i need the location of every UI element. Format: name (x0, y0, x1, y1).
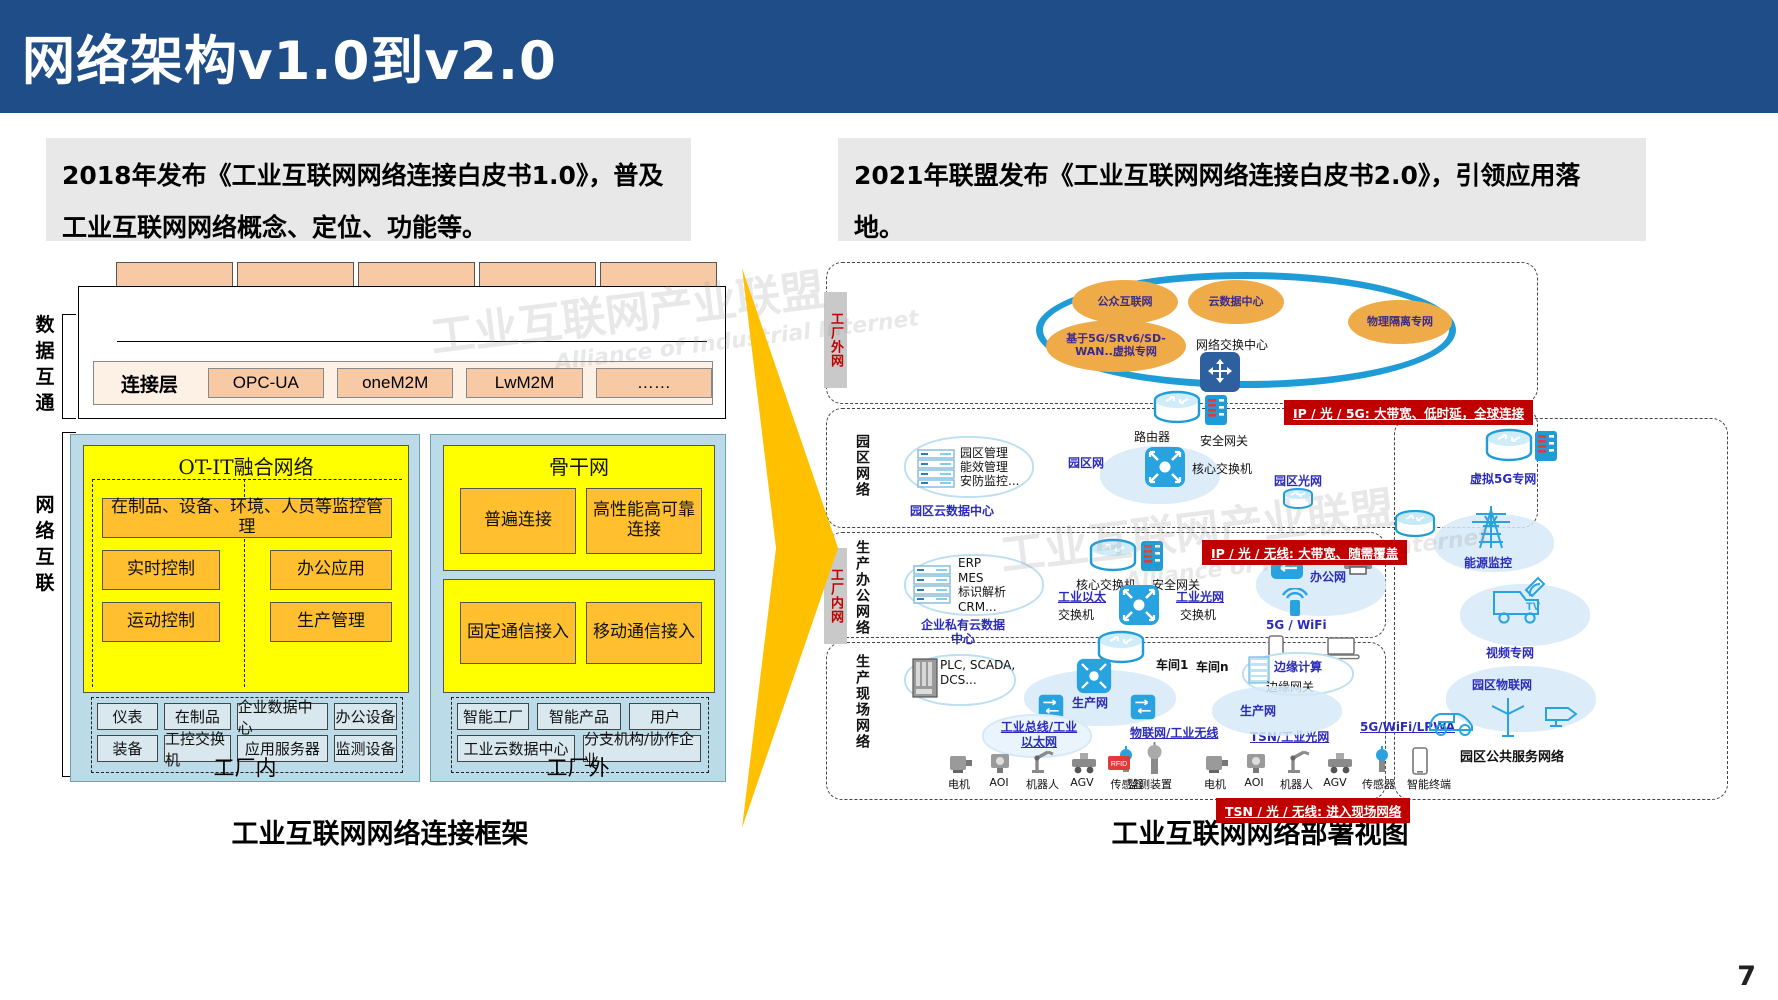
outside-chip: 智能工厂 (457, 703, 529, 730)
aoi-camera-icon (988, 748, 1014, 776)
smart-car-icon (1426, 698, 1480, 738)
ot-it-network-panel: OT-IT融合网络 在制品、设备、环境、人员等监控管理 实时控制 办公应用 运动… (83, 445, 409, 693)
device-label: 智能终端 (1407, 776, 1451, 792)
outside-factory-panel: 骨干网 普遍连接 高性能高可靠连接 固定通信接入 移动通信接入 智能工厂 智能产… (430, 434, 726, 782)
function-box: 办公应用 (270, 550, 392, 590)
data-interop-panel: 连接层 OPC-UA oneM2M LwM2M …… (78, 286, 726, 419)
wan-node-cloud-dc: 云数据中心 (1188, 280, 1284, 324)
inside-factory-panel: OT-IT融合网络 在制品、设备、环境、人员等监控管理 实时控制 办公应用 运动… (70, 434, 420, 782)
zone-text-production-field: 生产现场网络 (852, 654, 872, 750)
access-function-box: 移动通信接入 (586, 602, 702, 664)
production-net-cloud-2 (1212, 686, 1342, 736)
field-device-row-right (1204, 746, 1430, 776)
callout-right-text: 2021年联盟发布《工业互联网网络连接白皮书2.0》，引领应用落地。 (838, 138, 1646, 241)
side-label-network: 网络互联 (30, 492, 60, 596)
transition-arrow-icon (742, 268, 838, 828)
wifi-antenna-icon (1278, 588, 1312, 618)
device-label: AGV (1068, 776, 1096, 792)
left-framework-diagram: 数据互通 网络互联 工业云平台 工业软件 工业APP 工业网站 …… 连接层 O… (28, 262, 728, 812)
connection-layer-title: 连接层 (104, 370, 195, 397)
zone-text-production-office: 生产办公网络 (852, 540, 872, 636)
device-chip: 企业数据中心 (237, 703, 328, 730)
agv-icon (1326, 748, 1354, 776)
access-function-box: 固定通信接入 (460, 602, 576, 664)
industrial-ethernet-label: 工业以太 (1058, 588, 1106, 605)
red-bar-ip-optical-5g: IP / 光 / 5G: 大带宽、低时延，全球连接 (1284, 400, 1533, 425)
smart-terminal-icon (1410, 746, 1430, 776)
backbone-network-title: 骨干网 (444, 446, 714, 480)
public-optical-router-icon (1394, 510, 1436, 540)
wan-node-isolated-net: 物理隔离专网 (1348, 300, 1452, 344)
connection-layer-row: 连接层 OPC-UA oneM2M LwM2M …… (93, 361, 713, 405)
field-switch-icon (1130, 694, 1156, 720)
monitor-device-label: 监测装置 (1128, 776, 1172, 792)
device-label: 电机 (946, 776, 972, 792)
wind-turbine-icon (1486, 694, 1530, 740)
security-gateway-icon (1204, 394, 1228, 426)
function-box: 实时控制 (102, 550, 220, 590)
outside-chip: 用户 (629, 703, 701, 730)
zone-text-campus-network: 园区网络 (852, 434, 872, 498)
backbone-function-box: 普遍连接 (460, 488, 576, 554)
public-security-gateway-icon (1534, 430, 1558, 462)
device-label: AGV (1321, 776, 1349, 792)
backbone-network-panel: 骨干网 普遍连接 高性能高可靠连接 (443, 445, 715, 571)
optical-router-icon (1282, 488, 1314, 510)
workshop-n-label: 车间n (1196, 658, 1229, 675)
device-label: AOI (1241, 776, 1267, 792)
public-router-icon (1484, 428, 1534, 466)
wan-node-public-internet: 公众互联网 (1072, 280, 1178, 324)
connection-protocol-box: …… (596, 368, 712, 398)
backbone-function-box: 高性能高可靠连接 (586, 488, 702, 554)
robot-arm-icon (1028, 746, 1056, 776)
network-exchange-switch-icon (1198, 350, 1242, 394)
office-net-label: 办公网 (1310, 568, 1346, 585)
security-gateway-icon (1140, 540, 1164, 572)
connection-protocol-box: LwM2M (466, 368, 582, 398)
right-deployment-diagram: 工厂外网 工厂内网 园区网络 生产办公网络 生产现场网络 公众互联网 云数据中心… (800, 258, 1760, 803)
rfid-icon: RFID (1106, 750, 1132, 776)
video-net-label: 视频专网 (1486, 644, 1534, 661)
access-network-panel: 固定通信接入 移动通信接入 (443, 579, 715, 693)
campus-optical-label: 园区光网 (1274, 472, 1322, 489)
svg-text:RFID: RFID (1111, 761, 1127, 768)
function-box-monitor: 在制品、设备、环境、人员等监控管理 (102, 498, 392, 538)
private-cloud-items: ERP MES 标识解析 CRM... (958, 556, 1006, 614)
agv-icon (1070, 748, 1098, 776)
campus-iot-label: 园区物联网 (1472, 676, 1532, 693)
server-stack-icon (916, 448, 956, 488)
red-bar-ip-optical-wireless: IP / 光 / 无线: 大带宽、随需覆盖 (1202, 540, 1407, 565)
wifi-5g-label: 5G / WiFi (1266, 618, 1327, 632)
device-chip: 办公设备 (334, 703, 397, 730)
industrial-ethernet-switch-icon (1118, 584, 1160, 626)
campus-cloud-items: 园区管理 能效管理 安防监控... (960, 446, 1019, 488)
brace-data (62, 314, 76, 419)
field-device-labels-right: 电机 AOI 机器人 AGV 传感器 智能终端 (1202, 776, 1451, 792)
svg-text:TV: TV (1526, 601, 1541, 613)
virtual-5g-label: 虚拟5G专网 (1470, 470, 1536, 487)
page-title: 网络架构v1.0到v2.0 (22, 19, 557, 95)
cctv-camera-icon (1542, 698, 1582, 734)
iot-wireless-label: 物联网/工业无线 (1130, 724, 1218, 741)
device-chip: 在制品 (164, 703, 231, 730)
wan-node-virtual-private-net: 基于5G/SRv6/SD-WAN..虚拟专网 (1046, 320, 1186, 372)
monitor-device-icon (1140, 742, 1170, 776)
plc-scada-dcs-label: PLC, SCADA, DCS... (940, 658, 1020, 688)
power-tower-icon (1468, 502, 1514, 552)
campus-core-switch-label: 核心交换机 (1192, 460, 1252, 477)
device-label: 传感器 (1362, 776, 1394, 792)
slide-title-bar: 网络架构v1.0到v2.0 (0, 0, 1778, 113)
page-number: 7 (1737, 961, 1756, 992)
left-diagram-caption: 工业互联网网络连接框架 (80, 812, 680, 851)
connection-protocol-box: OPC-UA (208, 368, 324, 398)
inside-factory-caption: 工厂内 (70, 752, 420, 782)
field-device-labels-left: 电机 AOI 机器人 AGV 传感器 (946, 776, 1144, 792)
edge-compute-label: 边缘计算 (1274, 658, 1322, 675)
production-net-label-2: 生产网 (1240, 702, 1276, 719)
production-switch-icon (1076, 658, 1112, 694)
outside-chip: 智能产品 (537, 703, 621, 730)
server-stack-icon (912, 564, 952, 604)
ot-it-network-title: OT-IT融合网络 (84, 446, 408, 480)
private-cloud-dc-label: 企业私有云数据中心 (918, 618, 1008, 646)
workshop1-label: 车间1 (1156, 656, 1188, 673)
core-switch-icon (1144, 446, 1186, 488)
robot-arm-icon (1284, 746, 1312, 776)
function-box: 运动控制 (102, 602, 220, 642)
red-bar-tsn-optical-wireless: TSN / 光 / 无线: 进入现场网络 (1216, 798, 1410, 823)
router-icon (1152, 390, 1202, 428)
office-switch2-label: 交换机 (1180, 606, 1216, 623)
campus-cloud-dc-label: 园区云数据中心 (910, 502, 994, 519)
office-switch-label: 交换机 (1058, 606, 1094, 623)
connection-protocol-box: oneM2M (337, 368, 453, 398)
motor-icon (1204, 748, 1230, 776)
motor-icon (948, 748, 974, 776)
device-label: 机器人 (1026, 776, 1054, 792)
router-label: 路由器 (1134, 428, 1170, 445)
public-services-title: 园区公共服务网络 (1460, 746, 1564, 765)
device-label: AOI (986, 776, 1012, 792)
production-net-label-1: 生产网 (1072, 694, 1108, 711)
device-label: 电机 (1202, 776, 1228, 792)
function-box: 生产管理 (270, 602, 392, 642)
device-chip: 仪表 (97, 703, 158, 730)
side-label-data: 数据互通 (30, 312, 60, 416)
energy-monitor-label: 能源监控 (1464, 554, 1512, 571)
device-label: 机器人 (1280, 776, 1308, 792)
app-connector-line (117, 341, 707, 342)
router-icon (1088, 538, 1138, 576)
campus-net-label: 园区网 (1068, 454, 1104, 471)
outside-factory-caption: 工厂外 (430, 752, 726, 782)
sensor-icon (1368, 746, 1396, 776)
callout-left-text: 2018年发布《工业互联网网络连接白皮书1.0》，普及工业互联网网络概念、定位、… (46, 138, 691, 241)
security-gateway-label: 安全网关 (1200, 432, 1248, 449)
industrial-optical-label: 工业光网 (1176, 588, 1224, 605)
tv-van-icon: TV (1486, 574, 1552, 632)
plc-controller-icon (912, 658, 938, 698)
aoi-camera-icon (1244, 748, 1270, 776)
